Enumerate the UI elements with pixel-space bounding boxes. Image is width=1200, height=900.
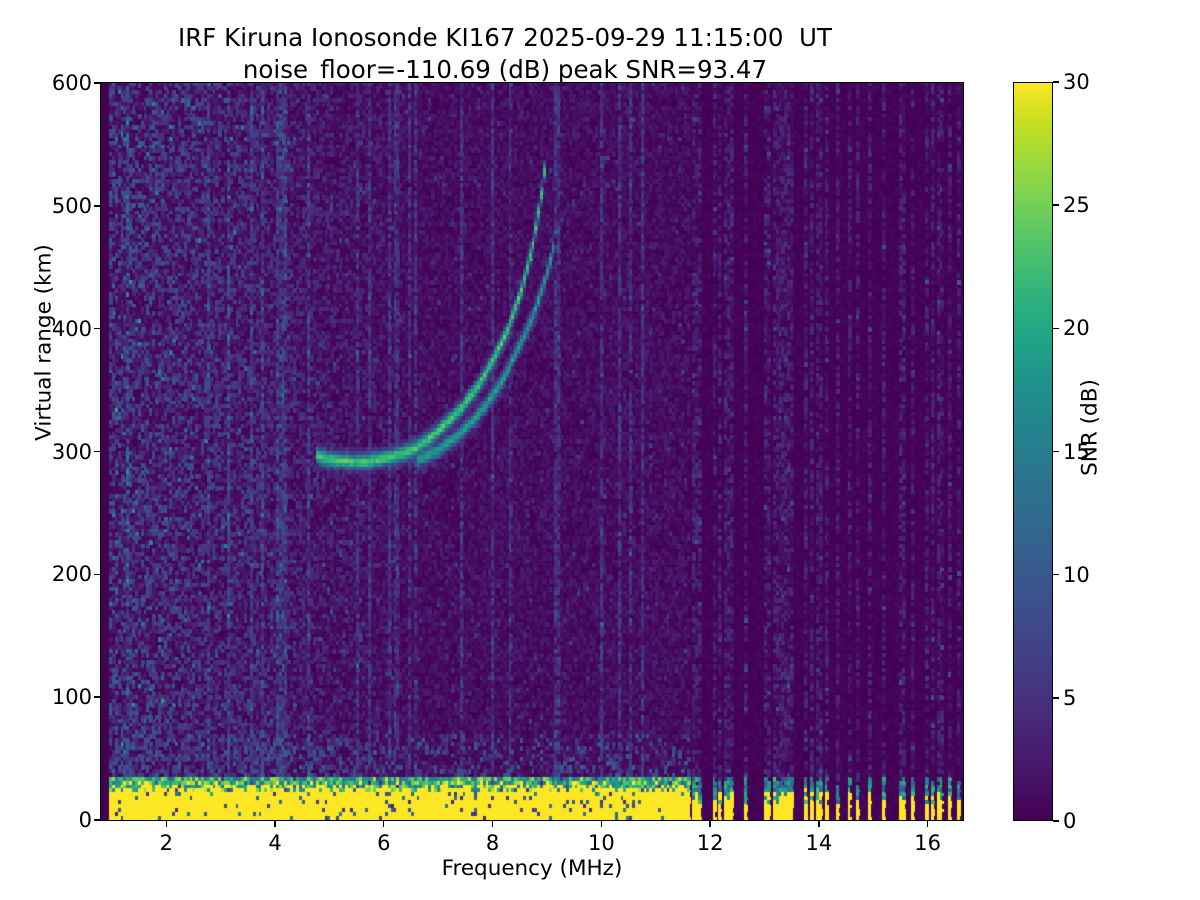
- x-tick-label: 6: [377, 831, 390, 855]
- ionogram-plot-area: [100, 82, 964, 821]
- colorbar-tick-label: 15: [1063, 440, 1090, 464]
- x-tick-mark: [709, 821, 710, 827]
- x-tick-mark: [927, 821, 928, 827]
- x-tick-mark: [818, 821, 819, 827]
- y-tick-mark: [94, 574, 100, 575]
- x-tick-mark: [166, 821, 167, 827]
- title-line-1: IRF Kiruna Ionosonde KI167 2025-09-29 11…: [0, 22, 1010, 54]
- colorbar-tick-label: 0: [1063, 809, 1076, 833]
- ionogram-figure: IRF Kiruna Ionosonde KI167 2025-09-29 11…: [0, 0, 1200, 900]
- x-tick-label: 2: [160, 831, 173, 855]
- x-tick-label: 12: [697, 831, 724, 855]
- colorbar-gradient: [1013, 82, 1053, 821]
- y-tick-mark: [94, 696, 100, 697]
- y-tick-label: 600: [52, 71, 92, 95]
- y-tick-mark: [94, 819, 100, 820]
- x-tick-mark: [274, 821, 275, 827]
- y-axis-label: Virtual range (km): [32, 63, 57, 623]
- colorbar-tick-mark: [1053, 820, 1059, 821]
- y-tick-label: 0: [79, 808, 92, 832]
- x-tick-mark: [492, 821, 493, 827]
- ionogram-heatmap: [101, 83, 963, 820]
- colorbar-tick-mark: [1053, 204, 1059, 205]
- title-line-2: noise_floor=-110.69 (dB) peak SNR=93.47: [0, 54, 1010, 86]
- x-tick-label: 10: [588, 831, 615, 855]
- y-tick-mark: [94, 328, 100, 329]
- figure-title: IRF Kiruna Ionosonde KI167 2025-09-29 11…: [0, 22, 1010, 86]
- colorbar-tick-mark: [1053, 574, 1059, 575]
- y-tick-label: 200: [52, 562, 92, 586]
- y-tick-mark: [94, 205, 100, 206]
- x-tick-mark: [601, 821, 602, 827]
- y-tick-label: 100: [52, 685, 92, 709]
- colorbar-tick-mark: [1053, 328, 1059, 329]
- y-tick-mark: [94, 451, 100, 452]
- x-tick-label: 16: [914, 831, 941, 855]
- colorbar-tick-mark: [1053, 697, 1059, 698]
- x-tick-label: 14: [806, 831, 833, 855]
- colorbar-tick-label: 20: [1063, 316, 1090, 340]
- x-tick-label: 4: [268, 831, 281, 855]
- y-tick-mark: [94, 82, 100, 83]
- colorbar-tick-label: 25: [1063, 193, 1090, 217]
- colorbar-tick-mark: [1053, 451, 1059, 452]
- x-axis-label: Frequency (MHz): [100, 856, 964, 881]
- x-tick-mark: [383, 821, 384, 827]
- y-tick-label: 300: [52, 440, 92, 464]
- x-tick-label: 8: [486, 831, 499, 855]
- colorbar-tick-label: 10: [1063, 563, 1090, 587]
- y-tick-label: 400: [52, 317, 92, 341]
- colorbar-tick-label: 5: [1063, 686, 1076, 710]
- y-tick-label: 500: [52, 194, 92, 218]
- colorbar-tick-label: 30: [1063, 70, 1090, 94]
- colorbar-tick-mark: [1053, 81, 1059, 82]
